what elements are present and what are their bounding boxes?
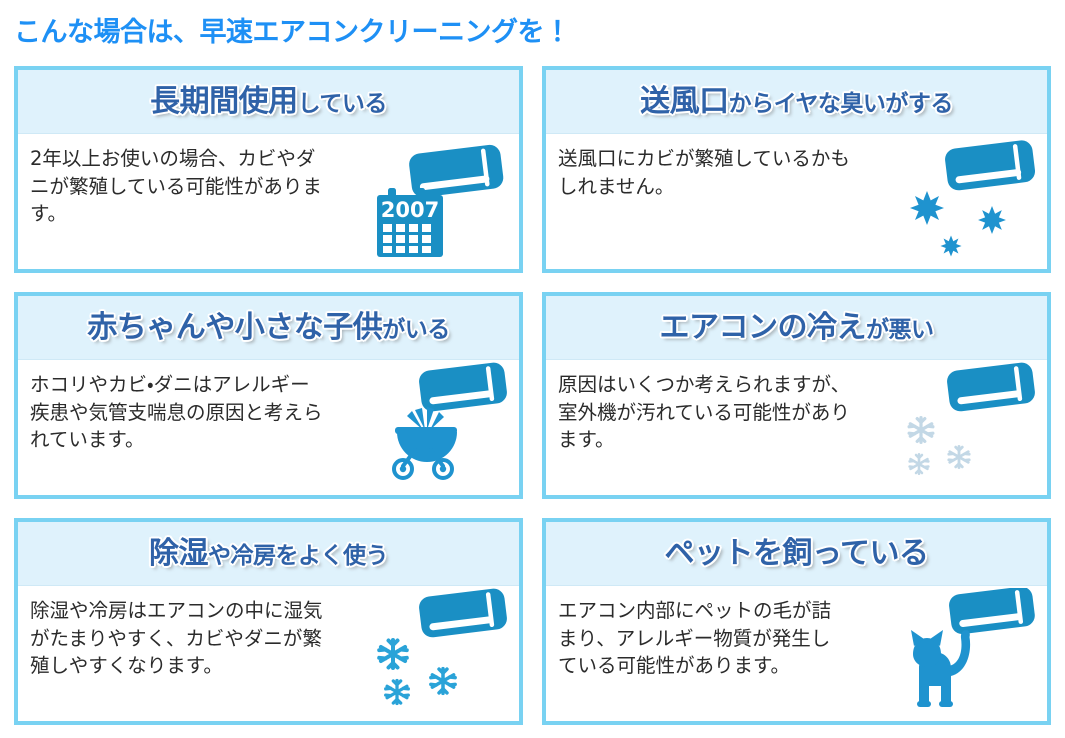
card-body: 原因はいくつか考えられますが、 室外機が汚れている可能性があり ます。 xyxy=(546,360,1047,495)
reason-card-dehumidify-cooling[interactable]: 除湿や冷房をよく使う 除湿や冷房はエアコンの中に湿気 がたまりやすく、カビやダニ… xyxy=(14,518,523,725)
aircon-snowflakes-icon xyxy=(371,588,511,720)
reason-card-long-term-use[interactable]: 長期間使用している 2年以上お使いの場合、カビやダ ニが繁殖している可能性があり… xyxy=(14,66,523,273)
card-description: ホコリやカビ・ダニはアレルギー 疾患や気管支喘息の原因と考えら れています。 xyxy=(18,360,370,454)
card-header: 赤ちゃんや小さな子供がいる xyxy=(18,296,519,360)
card-title: ペットを飼っている xyxy=(659,539,935,569)
card-title: 赤ちゃんや小さな子供がいる xyxy=(81,313,456,343)
card-header: 長期間使用している xyxy=(18,70,519,134)
card-description: エアコン内部にペットの毛が詰 まり、アレルギー物質が発生し ている可能性がありま… xyxy=(546,586,898,680)
aircon-stroller-icon xyxy=(371,362,511,494)
card-header: ペットを飼っている xyxy=(546,522,1047,586)
card-body: 2年以上お使いの場合、カビやダ ニが繁殖している可能性がありま す。 xyxy=(18,134,519,269)
reason-card-grid: 長期間使用している 2年以上お使いの場合、カビやダ ニが繁殖している可能性があり… xyxy=(14,66,1051,725)
card-description: 送風口にカビが繁殖しているかも しれません。 xyxy=(546,134,898,200)
card-title: 除湿や冷房をよく使う xyxy=(143,539,394,569)
card-description: 原因はいくつか考えられますが、 室外機が汚れている可能性があり ます。 xyxy=(546,360,898,454)
card-body: 送風口にカビが繁殖しているかも しれません。 xyxy=(546,134,1047,269)
card-title: 長期間使用している xyxy=(144,87,393,117)
card-header: エアコンの冷えが悪い xyxy=(546,296,1047,360)
aircon-germs-icon xyxy=(899,136,1039,268)
aircon-calendar-icon: 2007 xyxy=(371,136,511,268)
reason-card-has-pet[interactable]: ペットを飼っている エアコン内部にペットの毛が詰 まり、アレルギー物質が発生し … xyxy=(542,518,1051,725)
card-description: 除湿や冷房はエアコンの中に湿気 がたまりやすく、カビやダニが繁 殖しやすくなりま… xyxy=(18,586,370,680)
aircon-pale-snowflakes-icon xyxy=(899,362,1039,494)
card-body: エアコン内部にペットの毛が詰 まり、アレルギー物質が発生し ている可能性がありま… xyxy=(546,586,1047,721)
page-title: こんな場合は、早速エアコンクリーニングを！ xyxy=(14,18,571,48)
card-description: 2年以上お使いの場合、カビやダ ニが繁殖している可能性がありま す。 xyxy=(18,134,370,228)
card-body: ホコリやカビ・ダニはアレルギー 疾患や気管支喘息の原因と考えら れています。 xyxy=(18,360,519,495)
card-title: エアコンの冷えが悪い xyxy=(654,313,940,343)
aircon-cat-icon xyxy=(899,588,1039,720)
card-title: 送風口からイヤな臭いがする xyxy=(634,87,959,117)
reason-card-poor-cooling[interactable]: エアコンの冷えが悪い 原因はいくつか考えられますが、 室外機が汚れている可能性が… xyxy=(542,292,1051,499)
reason-card-baby-or-child[interactable]: 赤ちゃんや小さな子供がいる ホコリやカビ・ダニはアレルギー 疾患や気管支喘息の原… xyxy=(14,292,523,499)
card-header: 送風口からイヤな臭いがする xyxy=(546,70,1047,134)
card-body: 除湿や冷房はエアコンの中に湿気 がたまりやすく、カビやダニが繁 殖しやすくなりま… xyxy=(18,586,519,721)
svg-text:2007: 2007 xyxy=(381,198,439,222)
card-header: 除湿や冷房をよく使う xyxy=(18,522,519,586)
aircon-cleaning-infographic: こんな場合は、早速エアコンクリーニングを！ 長期間使用している 2年以上お使いの… xyxy=(0,0,1065,738)
reason-card-bad-smell[interactable]: 送風口からイヤな臭いがする 送風口にカビが繁殖しているかも しれません。 xyxy=(542,66,1051,273)
